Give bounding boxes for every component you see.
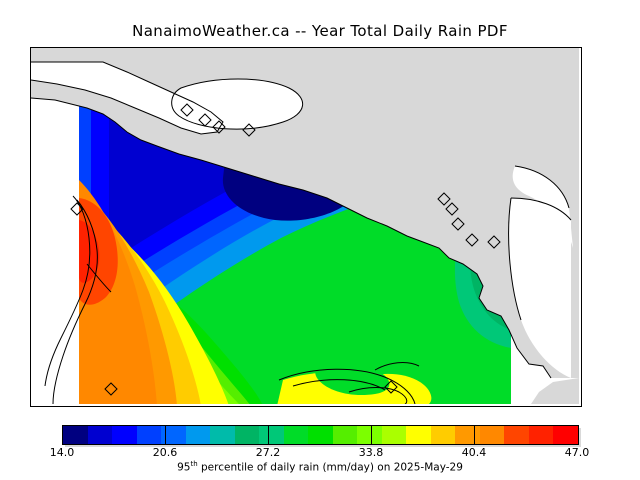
- colorbar-tick-labels: 14.020.627.233.840.447.0: [0, 446, 640, 460]
- colorbar-tick-label: 40.4: [462, 446, 487, 459]
- colorbar-caption: 95th percentile of daily rain (mm/day) o…: [0, 460, 640, 474]
- colorbar-tick-label: 33.8: [359, 446, 384, 459]
- colorbar-tick-label: 27.2: [256, 446, 281, 459]
- colorbar-band: [553, 426, 578, 444]
- colorbar-band: [186, 426, 211, 444]
- colorbar-band: [480, 426, 505, 444]
- contour-map: [31, 48, 579, 404]
- weather-map-figure: NanaimoWeather.ca -- Year Total Daily Ra…: [0, 0, 640, 480]
- colorbar-band: [235, 426, 260, 444]
- colorbar-tick-label: 20.6: [153, 446, 178, 459]
- map-plot-area[interactable]: [30, 47, 582, 407]
- caption-prefix: 95: [177, 462, 190, 474]
- colorbar-band: [88, 426, 113, 444]
- colorbar-tick-label: 47.0: [565, 446, 590, 459]
- colorbar-band: [431, 426, 456, 444]
- colorbar-tick-label: 14.0: [50, 446, 75, 459]
- colorbar-band: [259, 426, 284, 444]
- colorbar-band: [406, 426, 431, 444]
- colorbar[interactable]: [62, 425, 579, 445]
- colorbar-band: [504, 426, 529, 444]
- colorbar-band: [308, 426, 333, 444]
- colorbar-band: [284, 426, 309, 444]
- colorbar-band: [455, 426, 480, 444]
- colorbar-band: [333, 426, 358, 444]
- colorbar-bands[interactable]: [62, 425, 579, 445]
- caption-rest: percentile of daily rain (mm/day) on 202…: [198, 462, 463, 474]
- colorbar-band: [112, 426, 137, 444]
- colorbar-band: [382, 426, 407, 444]
- colorbar-band: [63, 426, 88, 444]
- colorbar-band: [529, 426, 554, 444]
- page-title: NanaimoWeather.ca -- Year Total Daily Ra…: [0, 22, 640, 40]
- caption-superscript: th: [190, 460, 197, 468]
- colorbar-band: [210, 426, 235, 444]
- colorbar-band: [161, 426, 186, 444]
- map-clip: [31, 48, 579, 404]
- colorbar-band: [357, 426, 382, 444]
- colorbar-band: [137, 426, 162, 444]
